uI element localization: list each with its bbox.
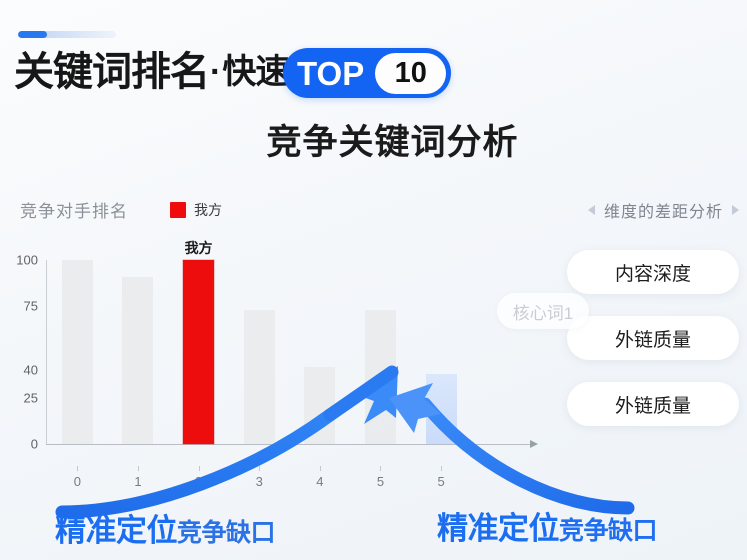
callout-left-strong: 精准定位 <box>55 505 177 550</box>
dimension-card[interactable]: 外链质量 <box>567 382 739 426</box>
section-title: 竞争关键词分析 <box>0 114 747 165</box>
chart-x-tick-mark <box>138 466 139 471</box>
callout-left-weak: 竞争缺口 <box>177 513 275 549</box>
chart-x-tick: 3 <box>256 474 263 489</box>
chart-bar[interactable] <box>62 260 93 444</box>
callout-right-strong: 精准定位 <box>437 503 559 548</box>
dimension-card[interactable]: 外链质量 <box>567 316 739 360</box>
dimension-card-label: 外链质量 <box>615 325 691 352</box>
chart-x-tick: 4 <box>316 474 323 489</box>
chart-x-tick: 5 <box>437 474 444 489</box>
chart-x-tick-mark <box>259 466 260 471</box>
chart-legend-title: 竞争对手排名 <box>20 197 128 222</box>
chart-x-tick: 1 <box>134 474 141 489</box>
chart-y-tick: 25 <box>24 391 38 406</box>
callout-right: 精准定位 竞争缺口 <box>437 503 657 548</box>
top-badge-label: TOP <box>297 57 364 90</box>
chart-x-tick-mark <box>77 466 78 471</box>
callout-left: 精准定位 竞争缺口 <box>55 505 275 550</box>
chart-bar[interactable] <box>304 367 335 444</box>
legend-item-mine[interactable]: 我方 <box>170 200 222 220</box>
callout-right-weak: 竞争缺口 <box>559 511 657 547</box>
chart-x-tick: 5 <box>377 474 384 489</box>
chart-y-tick: 75 <box>24 299 38 314</box>
chart-y-axis: 1007540250 <box>0 238 44 448</box>
page-title-separator: · <box>210 53 221 92</box>
legend-swatch-icon <box>170 202 186 218</box>
chart-x-tick: 0 <box>74 474 81 489</box>
chart-x-tick-mark <box>199 466 200 471</box>
competitor-bar-chart: 1007540250 01我方23455 <box>0 238 545 478</box>
dimension-card-label: 外链质量 <box>615 391 691 418</box>
dimension-card-label: 内容深度 <box>615 259 691 286</box>
chart-x-tick-mark <box>380 466 381 471</box>
chart-bar-mine[interactable] <box>183 260 214 444</box>
chart-x-tick: 2 <box>195 474 202 489</box>
chart-y-tick: 40 <box>24 363 38 378</box>
top-rank-badge[interactable]: TOP 10 <box>283 48 451 98</box>
top-badge-value: 10 <box>375 53 446 94</box>
chart-legend: 竞争对手排名 我方 <box>20 197 222 222</box>
progress-track <box>18 31 116 38</box>
page-title: 关键词排名 · 快速 <box>14 44 288 100</box>
chart-x-tick-mark <box>320 466 321 471</box>
chart-bar-mine-label: 我方 <box>185 238 213 258</box>
dimension-card-list: 内容深度 外链质量 外链质量 <box>567 250 739 426</box>
chart-x-tick-mark <box>502 466 503 471</box>
chart-bar[interactable] <box>365 310 396 444</box>
chevron-right-icon[interactable] <box>732 205 739 215</box>
chart-bar[interactable] <box>244 310 275 444</box>
chart-bar[interactable] <box>426 374 457 444</box>
chevron-left-icon[interactable] <box>588 205 595 215</box>
progress-fill <box>18 31 47 38</box>
chart-y-tick: 0 <box>31 437 38 452</box>
dimension-card[interactable]: 内容深度 <box>567 250 739 294</box>
chart-y-tick: 100 <box>16 253 38 268</box>
chart-bar[interactable] <box>122 277 153 444</box>
chart-x-axis-line <box>46 444 532 445</box>
panel-header-label: 维度的差距分析 <box>604 198 723 222</box>
page-title-main: 关键词排名 <box>14 52 209 92</box>
panel-header: 维度的差距分析 <box>588 198 739 222</box>
page-title-sub: 快速 <box>222 55 288 89</box>
chart-plot-area: 01我方23455 <box>47 260 532 444</box>
legend-item-label: 我方 <box>194 200 222 220</box>
chart-x-tick-mark <box>441 466 442 471</box>
